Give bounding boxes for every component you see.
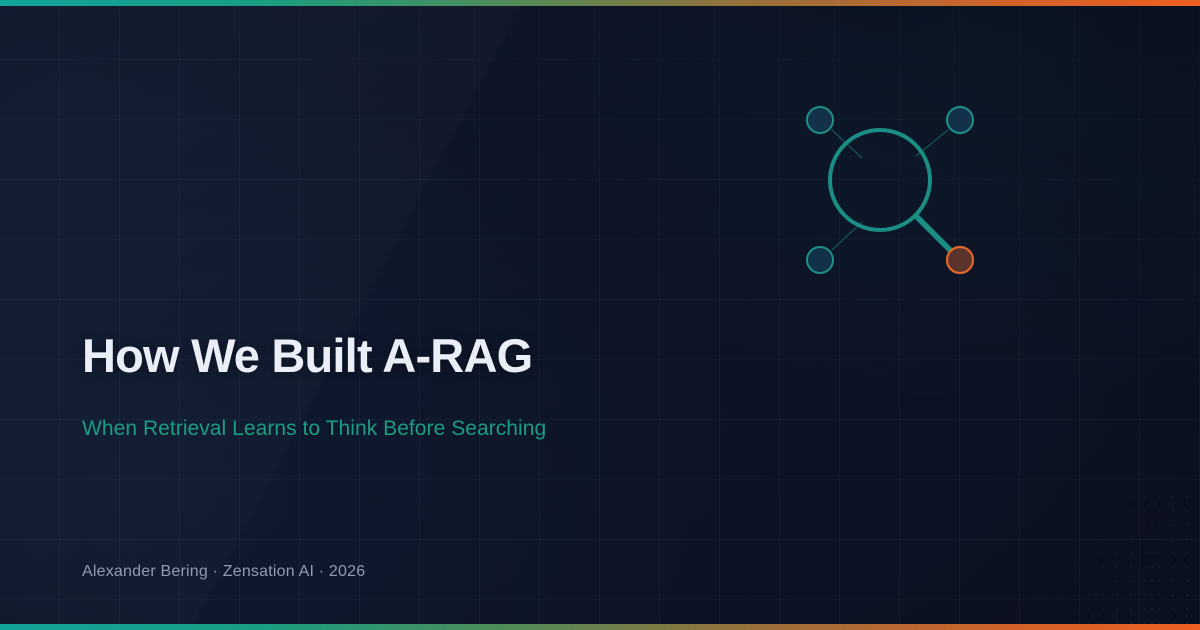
background-vignette (0, 0, 1200, 630)
node-bottom-left (807, 247, 833, 273)
page-subtitle: When Retrieval Learns to Think Before Se… (82, 383, 802, 442)
bottom-accent-bar (0, 624, 1200, 630)
node-bottom-right-accent (947, 247, 973, 273)
title-text-block: How We Built A-RAG When Retrieval Learns… (82, 330, 802, 442)
magnifier-network-graphic (770, 80, 1000, 300)
top-accent-bar (0, 0, 1200, 6)
node-top-right (947, 107, 973, 133)
page-title: How We Built A-RAG (82, 330, 802, 383)
magnifier-lens-icon (830, 130, 930, 230)
node-top-left (807, 107, 833, 133)
title-slide: How We Built A-RAG When Retrieval Learns… (0, 0, 1200, 630)
footer-byline: Alexander Bering · Zensation AI · 2026 (82, 563, 365, 581)
